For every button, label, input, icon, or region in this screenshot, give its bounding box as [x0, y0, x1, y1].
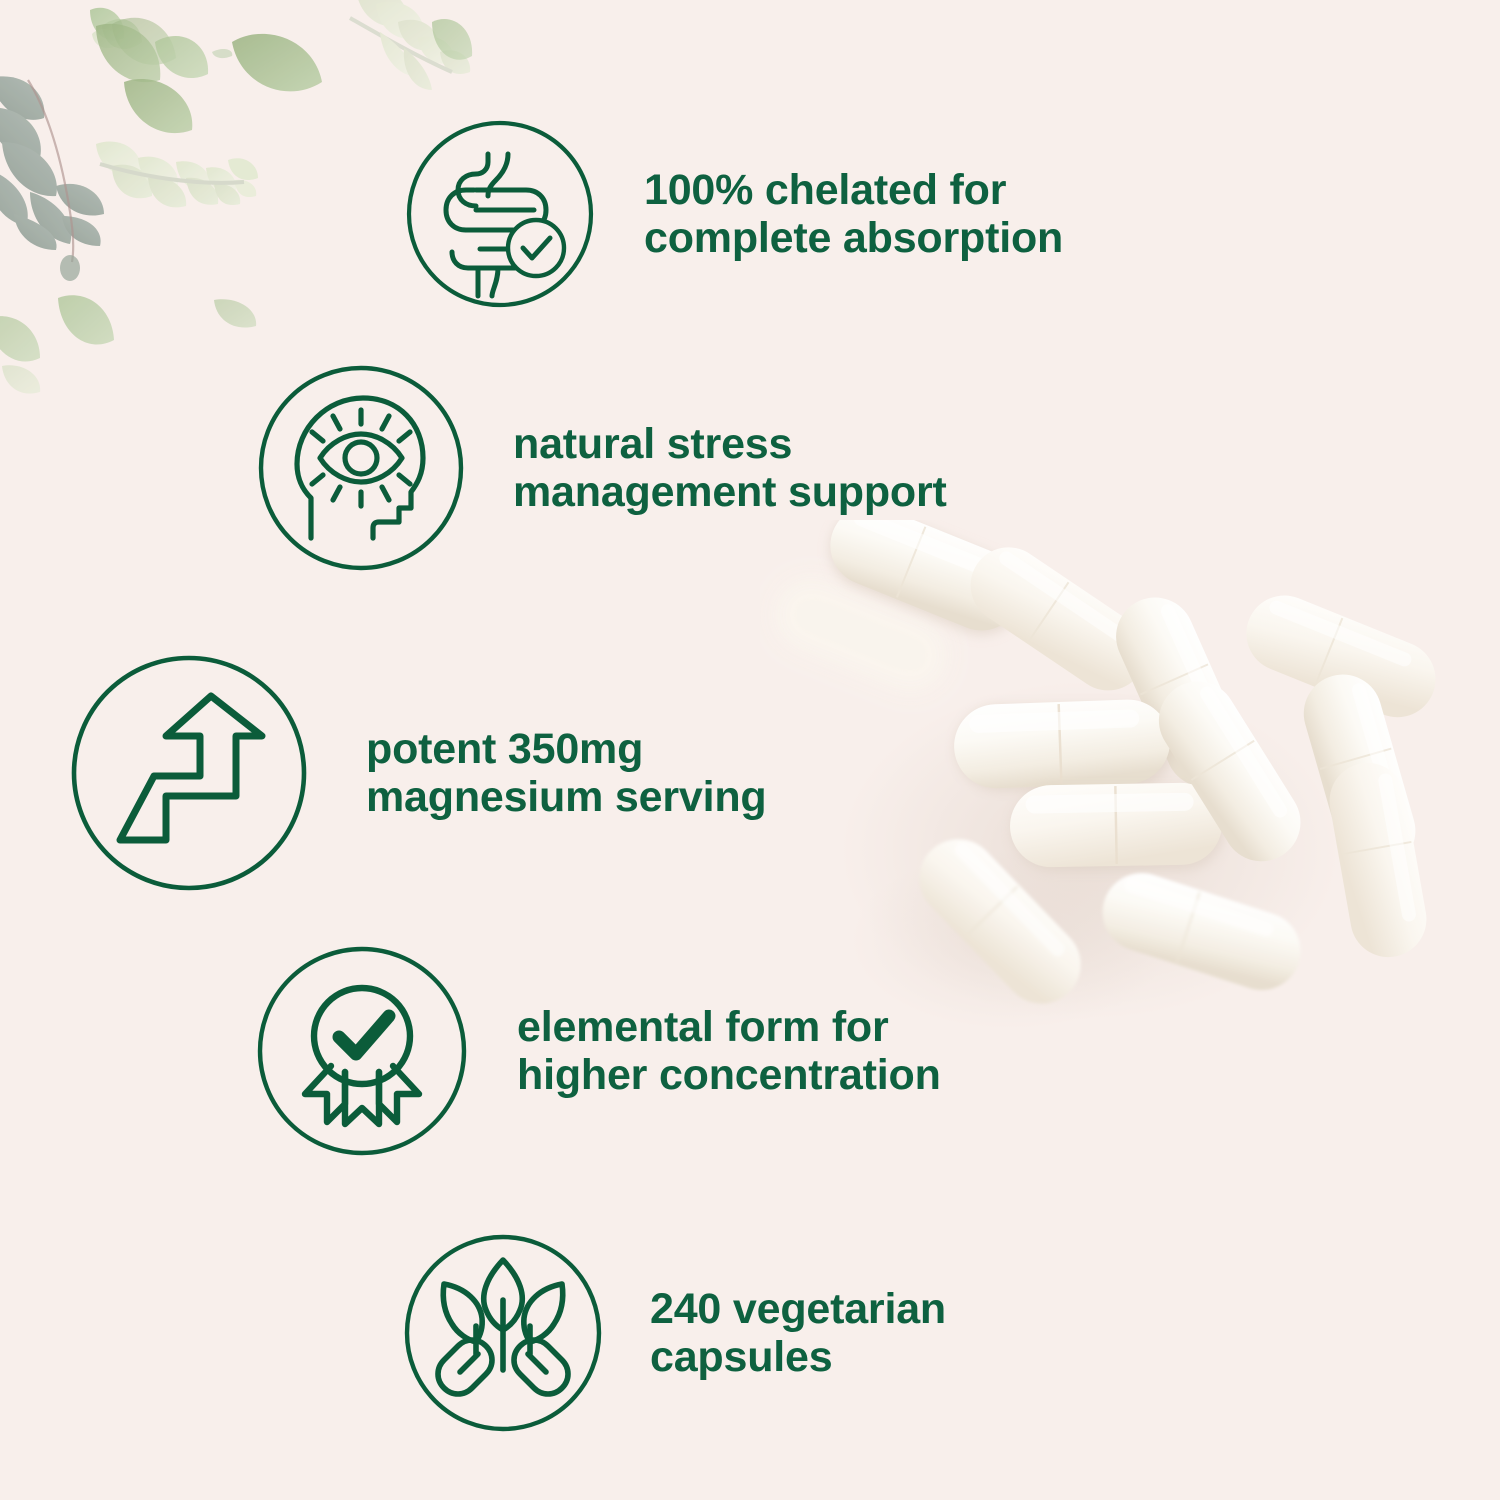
plant-capsules-icon [400, 1230, 606, 1436]
feature-label: 100% chelated for complete absorption [644, 166, 1063, 262]
intestine-check-icon [404, 118, 596, 310]
feature-label: potent 350mg magnesium serving [366, 725, 766, 821]
feature-row-elemental: elemental form for higher concentration [253, 942, 941, 1160]
feature-row-chelated: 100% chelated for complete absorption [404, 118, 1063, 310]
zigzag-up-arrow-icon [66, 650, 312, 896]
feature-label: natural stress management support [513, 420, 947, 516]
award-ribbon-check-icon [253, 942, 471, 1160]
feature-row-stress: natural stress management support [255, 362, 947, 574]
feature-label: elemental form for higher concentration [517, 1003, 941, 1099]
product-infographic: 100% chelated for complete absorption [0, 0, 1500, 1500]
head-eye-rays-icon [255, 362, 467, 574]
feature-label: 240 vegetarian capsules [650, 1285, 946, 1381]
feature-row-potency: potent 350mg magnesium serving [66, 650, 766, 896]
feature-row-capsules: 240 vegetarian capsules [400, 1230, 946, 1436]
